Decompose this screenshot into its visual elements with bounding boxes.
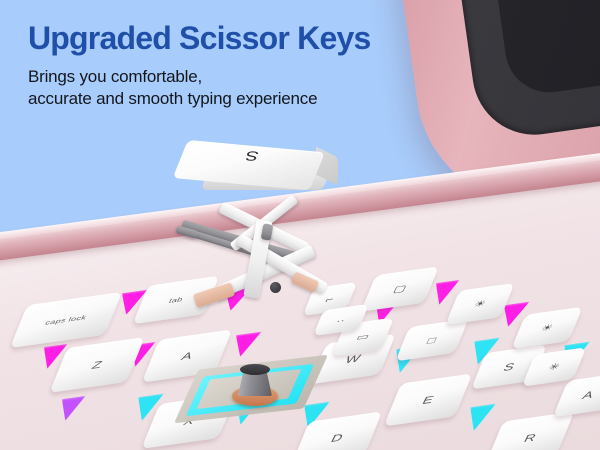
floating-keycap: S <box>188 140 338 186</box>
laptop-screen-glass <box>471 0 600 98</box>
switch-top-cap <box>240 364 270 375</box>
subtitle-line-2: accurate and smooth typing experience <box>28 88 317 110</box>
scissor-copper-tab-right <box>291 271 320 293</box>
key-switch-stem <box>228 368 280 410</box>
product-banner: caps locktabAZXWEDRSA▢□▭☀☀✳⌐·· S Upgrade… <box>0 0 600 450</box>
scissor-pivot <box>270 282 281 293</box>
subtitle: Brings you comfortable, accurate and smo… <box>28 66 317 111</box>
scissor-copper-tab-left <box>193 282 235 308</box>
page-title: Upgraded Scissor Keys <box>28 20 370 57</box>
scissor-mechanism <box>176 214 346 318</box>
subtitle-line-1: Brings you comfortable, <box>28 66 317 88</box>
laptop-screen-bezel <box>437 0 600 143</box>
